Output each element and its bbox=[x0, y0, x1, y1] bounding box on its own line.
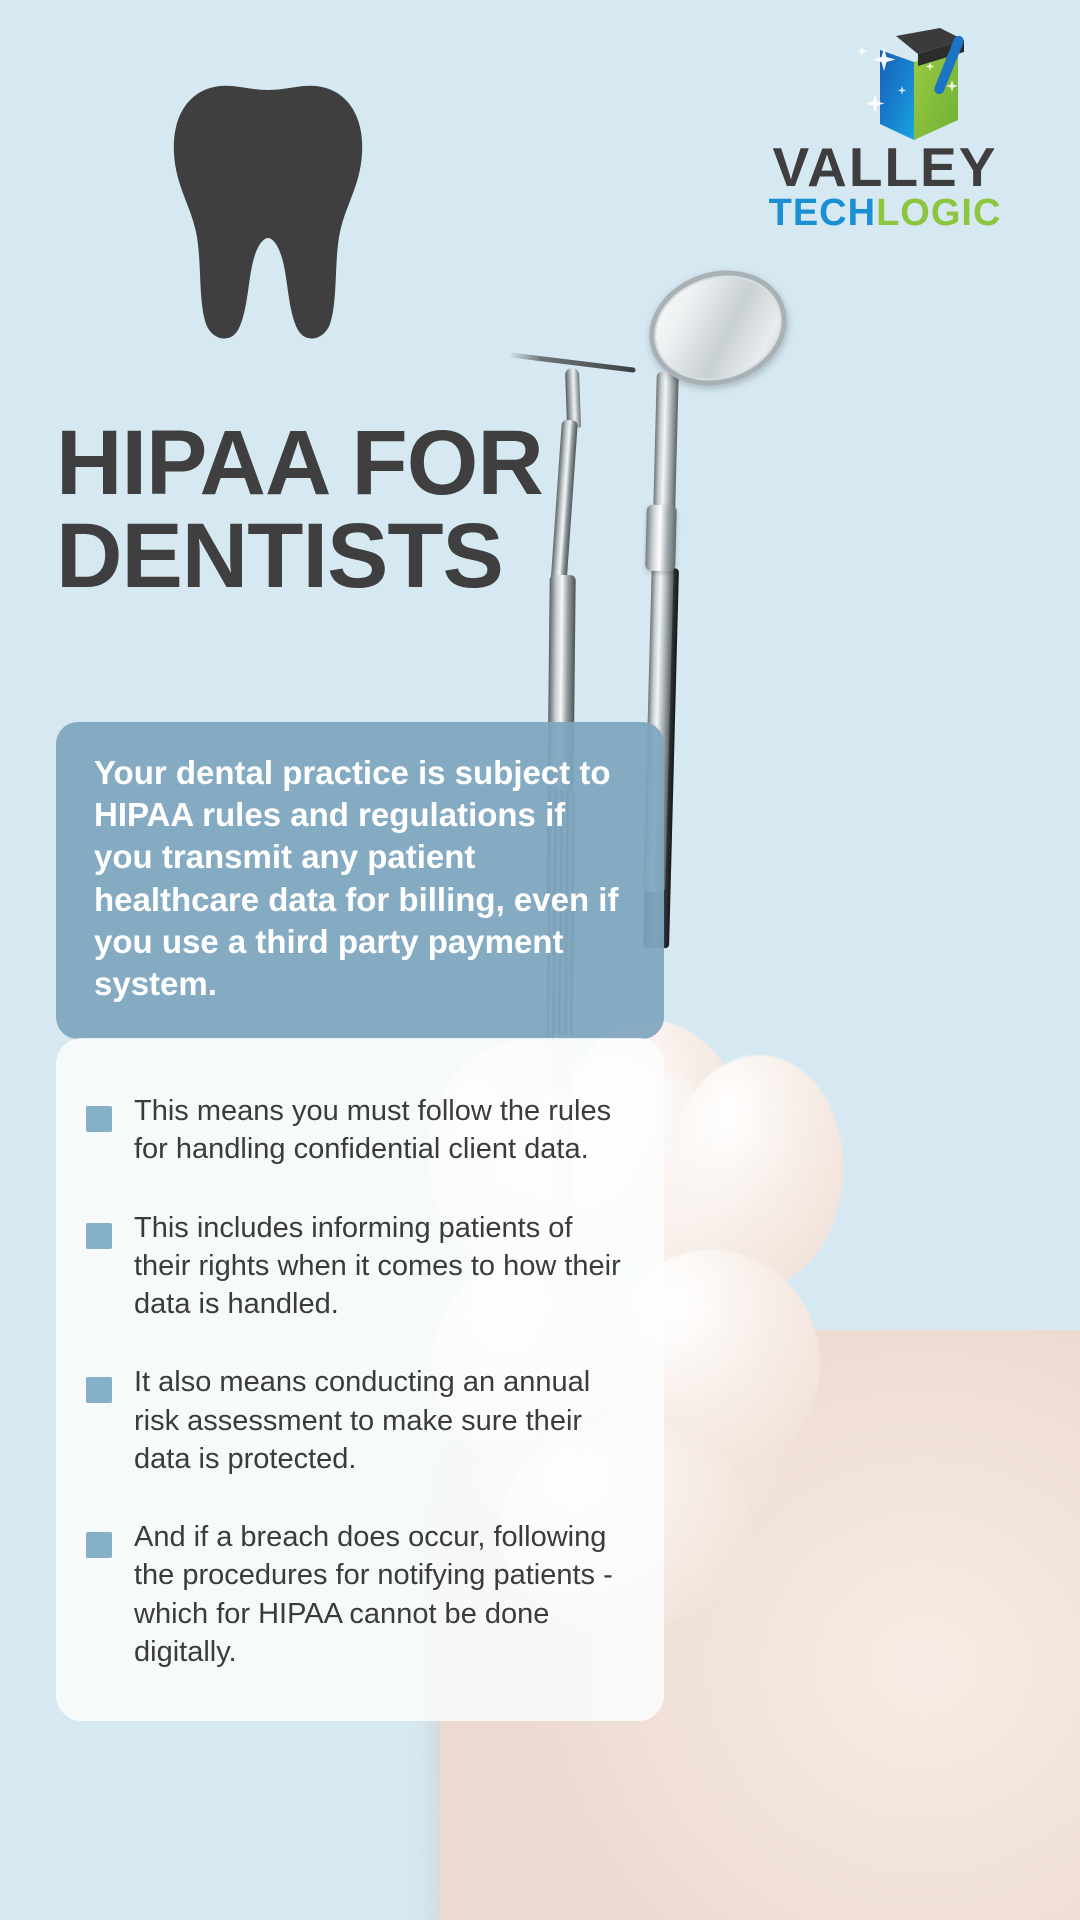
dental-explorer-probe-instrument bbox=[508, 352, 636, 373]
valley-techlogic-logo[interactable]: VALLEY TECHLOGIC bbox=[710, 28, 1060, 208]
logo-wordmark-valley: VALLEY bbox=[710, 140, 1060, 195]
page-title-line-1: HIPAA FOR bbox=[56, 412, 543, 514]
infographic-poster: VALLEY TECHLOGIC HIPAA FOR DENTISTS Your… bbox=[0, 0, 1080, 1920]
logo-wordmark-logic: LOGIC bbox=[876, 192, 1001, 234]
tooth-icon bbox=[168, 82, 368, 342]
square-bullet-icon bbox=[86, 1106, 112, 1132]
list-item: This includes informing patients of thei… bbox=[86, 1209, 624, 1324]
callout-box: Your dental practice is subject to HIPAA… bbox=[56, 722, 664, 1039]
square-bullet-icon bbox=[86, 1377, 112, 1403]
list-item-label: This means you must follow the rules for… bbox=[134, 1092, 624, 1169]
dental-mirror-instrument bbox=[634, 253, 802, 403]
list-item: It also means conducting an annual risk … bbox=[86, 1363, 624, 1478]
square-bullet-icon bbox=[86, 1223, 112, 1249]
bullet-list-card: This means you must follow the rules for… bbox=[56, 1038, 664, 1721]
logo-wordmark-techlogic: TECHLOGIC bbox=[710, 194, 1060, 232]
valley-techlogic-cube-mark bbox=[840, 28, 990, 148]
list-item-label: This includes informing patients of thei… bbox=[134, 1209, 624, 1324]
square-bullet-icon bbox=[86, 1532, 112, 1558]
list-item-label: And if a breach does occur, following th… bbox=[134, 1518, 624, 1671]
list-item: And if a breach does occur, following th… bbox=[86, 1518, 624, 1671]
glove-finger bbox=[660, 1049, 851, 1296]
list-item-label: It also means conducting an annual risk … bbox=[134, 1363, 624, 1478]
page-title: HIPAA FOR DENTISTS bbox=[56, 417, 676, 605]
logo-wordmark-tech: TECH bbox=[769, 192, 876, 234]
callout-text: Your dental practice is subject to HIPAA… bbox=[94, 754, 618, 1002]
list-item: This means you must follow the rules for… bbox=[86, 1092, 624, 1169]
page-title-line-2: DENTISTS bbox=[56, 510, 676, 604]
